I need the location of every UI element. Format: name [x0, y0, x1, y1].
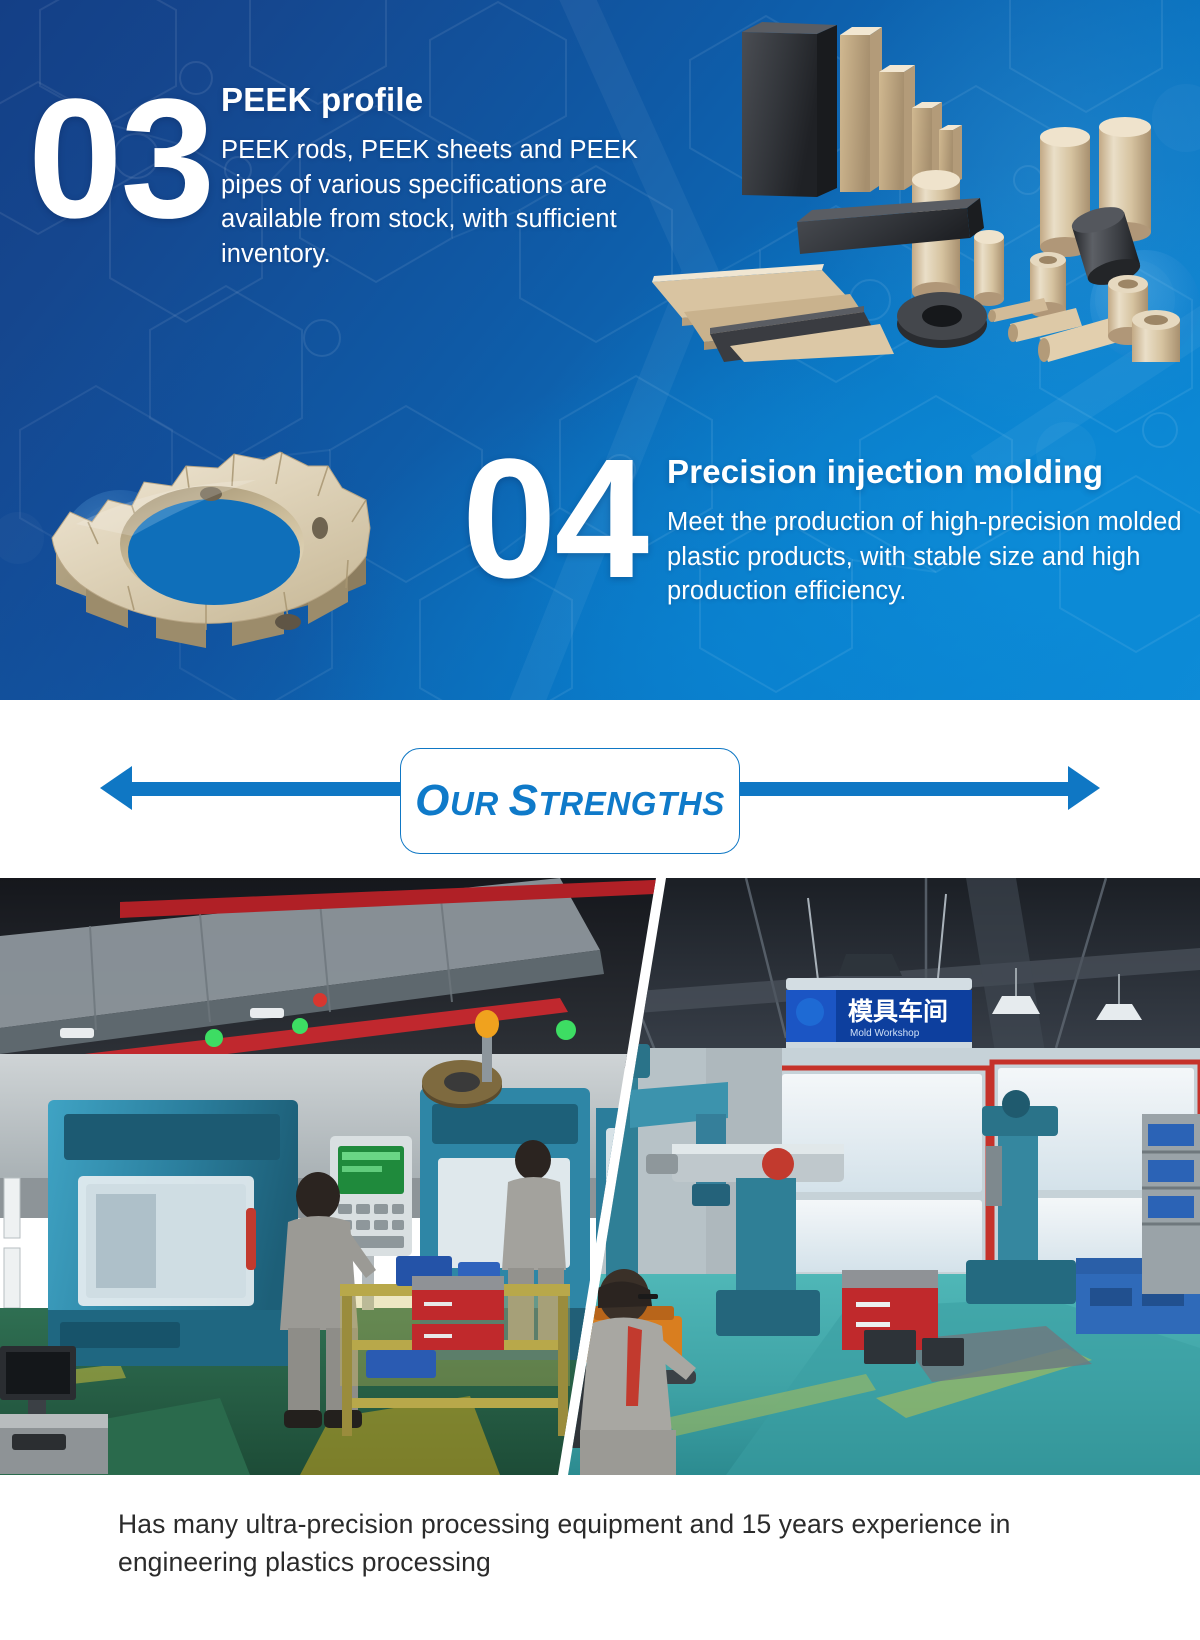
feature-body-03: PEEK rods, PEEK sheets and PEEK pipes of…	[221, 133, 651, 272]
page-caption: Has many ultra-precision processing equi…	[0, 1482, 1200, 1640]
svg-text:Mold Workshop: Mold Workshop	[850, 1028, 920, 1039]
peek-profiles-illustration	[612, 12, 1188, 362]
product-feature-page: 03 PEEK profile PEEK rods, PEEK sheets a…	[0, 0, 1200, 1640]
our-strengths-cap-s: S	[509, 776, 539, 825]
peek-gear-ring-photo	[36, 404, 386, 676]
our-strengths-label-box: OUR STRENGTHS	[400, 748, 740, 854]
peek-profiles-photo	[612, 12, 1188, 362]
our-strengths-text-2: TRENGTHS	[539, 785, 725, 822]
our-strengths-text-1: UR	[450, 785, 509, 822]
caption-text: Has many ultra-precision processing equi…	[118, 1506, 1082, 1581]
mold-workshop-photo: 模具车间 Mold Workshop	[546, 878, 1200, 1475]
feature-body-04: Meet the production of high-precision mo…	[667, 505, 1197, 609]
feature-number-03: 03	[28, 86, 213, 232]
hero-blue-panel: 03 PEEK profile PEEK rods, PEEK sheets a…	[0, 0, 1200, 700]
feature-title-04: Precision injection molding	[667, 454, 1197, 491]
mold-workshop-illustration: 模具车间 Mold Workshop	[546, 878, 1200, 1475]
workshop-photo-pair: 模具车间 Mold Workshop	[0, 878, 1200, 1475]
feature-block-03: 03 PEEK profile PEEK rods, PEEK sheets a…	[0, 0, 660, 360]
arrow-head-left-icon	[100, 766, 132, 810]
svg-text:模具车间: 模具车间	[848, 997, 948, 1026]
feature-number-04: 04	[462, 446, 647, 592]
our-strengths-cap-o: O	[415, 776, 450, 825]
feature-block-04: 04 Precision injection molding Meet the …	[440, 428, 1200, 678]
our-strengths-label: OUR STRENGTHS	[415, 776, 725, 826]
feature-title-03: PEEK profile	[221, 82, 651, 119]
arrow-head-right-icon	[1068, 766, 1100, 810]
peek-gear-ring-illustration	[36, 404, 386, 676]
